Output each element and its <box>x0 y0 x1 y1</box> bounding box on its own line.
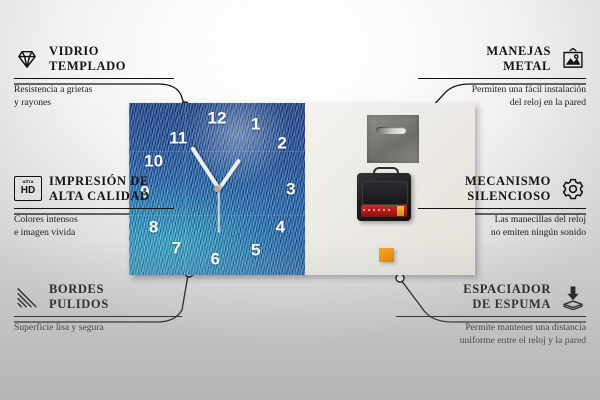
callout-title-line2: DE ESPUMA <box>472 297 551 311</box>
callout-title: VIDRIO TEMPLADO <box>49 44 126 74</box>
callout-description: Las manecillas del reloj no emiten ningú… <box>418 214 586 240</box>
callout-desc-line1: Superficie lisa y segura <box>14 322 104 333</box>
callout-manejas-metal[interactable]: MANEJAS METAL Permiten una fácil instala… <box>418 44 586 110</box>
callout-vidrio-templado[interactable]: VIDRIO TEMPLADO Resistencia a grietas y … <box>14 44 174 110</box>
clock-second-hand <box>218 187 220 233</box>
battery <box>361 205 407 217</box>
infographic-canvas: 12 1 2 3 4 5 6 7 8 9 10 11 <box>0 0 600 400</box>
callout-header: ultra HD IMPRESIÓN DE ALTA CALIDAD <box>14 174 174 204</box>
callout-desc-line2: y rayones <box>14 97 51 108</box>
callout-title-line1: ESPACIADOR <box>463 282 551 296</box>
callout-divider <box>418 78 586 80</box>
clock-numeral-6: 6 <box>211 251 220 268</box>
callout-description: Colores intensos e imagen vívida <box>14 214 174 240</box>
callout-title: BORDES PULIDOS <box>49 282 109 312</box>
callout-desc-line2: del reloj en la pared <box>510 97 586 108</box>
callout-header: VIDRIO TEMPLADO <box>14 44 174 74</box>
callout-description: Permite mantener una distancia uniforme … <box>396 322 586 348</box>
callout-description: Permiten una fácil instalación del reloj… <box>418 84 586 110</box>
foam-spacer-arrow-icon <box>560 284 586 310</box>
mechanism-panel <box>362 181 408 205</box>
callout-header: ESPACIADOR DE ESPUMA <box>396 282 586 312</box>
picture-frame-hanger-icon <box>560 46 586 72</box>
ultra-hd-large-text: HD <box>21 186 35 196</box>
callout-header: MECANISMO SILENCIOSO <box>418 174 586 204</box>
foam-spacer <box>379 248 394 262</box>
callout-header: MANEJAS METAL <box>418 44 586 74</box>
callout-desc-line1: Permite mantener una distancia <box>465 322 586 333</box>
callout-espaciador-espuma[interactable]: ESPACIADOR DE ESPUMA Permite mantener un… <box>396 282 586 348</box>
callout-divider <box>14 208 174 210</box>
callout-desc-line1: Resistencia a grietas <box>14 84 92 95</box>
callout-desc-line1: Colores intensos <box>14 214 78 225</box>
hanger-slot <box>376 127 406 134</box>
callout-desc-line2: uniforme entre el reloj y la pared <box>460 335 586 346</box>
gear-icon <box>560 176 586 202</box>
clock-numeral-3: 3 <box>286 181 295 198</box>
callout-title-line2: TEMPLADO <box>49 59 126 73</box>
clock-numeral-7: 7 <box>172 240 181 257</box>
diamond-icon <box>14 46 40 72</box>
callout-title-line1: MECANISMO <box>465 174 551 188</box>
callout-title-line2: ALTA CALIDAD <box>49 189 150 203</box>
callout-desc-line1: Permiten una fácil instalación <box>472 84 586 95</box>
polished-edge-icon <box>14 284 40 310</box>
callout-divider <box>396 316 586 318</box>
clock-numeral-4: 4 <box>276 219 285 236</box>
callout-bordes-pulidos[interactable]: BORDES PULIDOS Superficie lisa y segura <box>14 282 182 335</box>
callout-title: MANEJAS METAL <box>486 44 551 74</box>
callout-header: BORDES PULIDOS <box>14 282 182 312</box>
clock-numeral-2: 2 <box>277 135 286 152</box>
callout-mecanismo-silencioso[interactable]: MECANISMO SILENCIOSO Las manecillas del … <box>418 174 586 240</box>
callout-desc-line2: no emiten ningún sonido <box>491 227 586 238</box>
clock-numeral-11: 11 <box>169 130 187 147</box>
callout-description: Superficie lisa y segura <box>14 322 182 335</box>
callout-title: ESPACIADOR DE ESPUMA <box>463 282 551 312</box>
callout-title-line2: METAL <box>503 59 551 73</box>
callout-title-line2: SILENCIOSO <box>467 189 551 203</box>
clock-numeral-10: 10 <box>144 153 163 170</box>
callout-description: Resistencia a grietas y rayones <box>14 84 174 110</box>
callout-desc-line2: e imagen vívida <box>14 227 75 238</box>
ultra-hd-icon: ultra HD <box>14 176 40 202</box>
clock-center-cap <box>214 186 220 192</box>
callout-title-line2: PULIDOS <box>49 297 109 311</box>
callout-desc-line1: Las manecillas del reloj <box>495 214 586 225</box>
callout-title-line1: MANEJAS <box>486 44 551 58</box>
metal-hanger-plate <box>367 115 419 163</box>
callout-divider <box>418 208 586 210</box>
callout-title: IMPRESIÓN DE ALTA CALIDAD <box>49 174 150 204</box>
callout-title-line1: VIDRIO <box>49 44 99 58</box>
callout-impresion-alta-calidad[interactable]: ultra HD IMPRESIÓN DE ALTA CALIDAD Color… <box>14 174 174 240</box>
callout-title-line1: BORDES <box>49 282 104 296</box>
clock-numeral-12: 12 <box>208 110 227 127</box>
clock-numeral-5: 5 <box>251 242 260 259</box>
clock-mechanism-box <box>357 173 411 221</box>
callout-title: MECANISMO SILENCIOSO <box>465 174 551 204</box>
callout-divider <box>14 316 182 318</box>
clock-numeral-1: 1 <box>251 116 260 133</box>
mechanism-hanger-loop <box>373 167 399 179</box>
callout-title-line1: IMPRESIÓN DE <box>49 174 149 188</box>
callout-divider <box>14 78 174 80</box>
